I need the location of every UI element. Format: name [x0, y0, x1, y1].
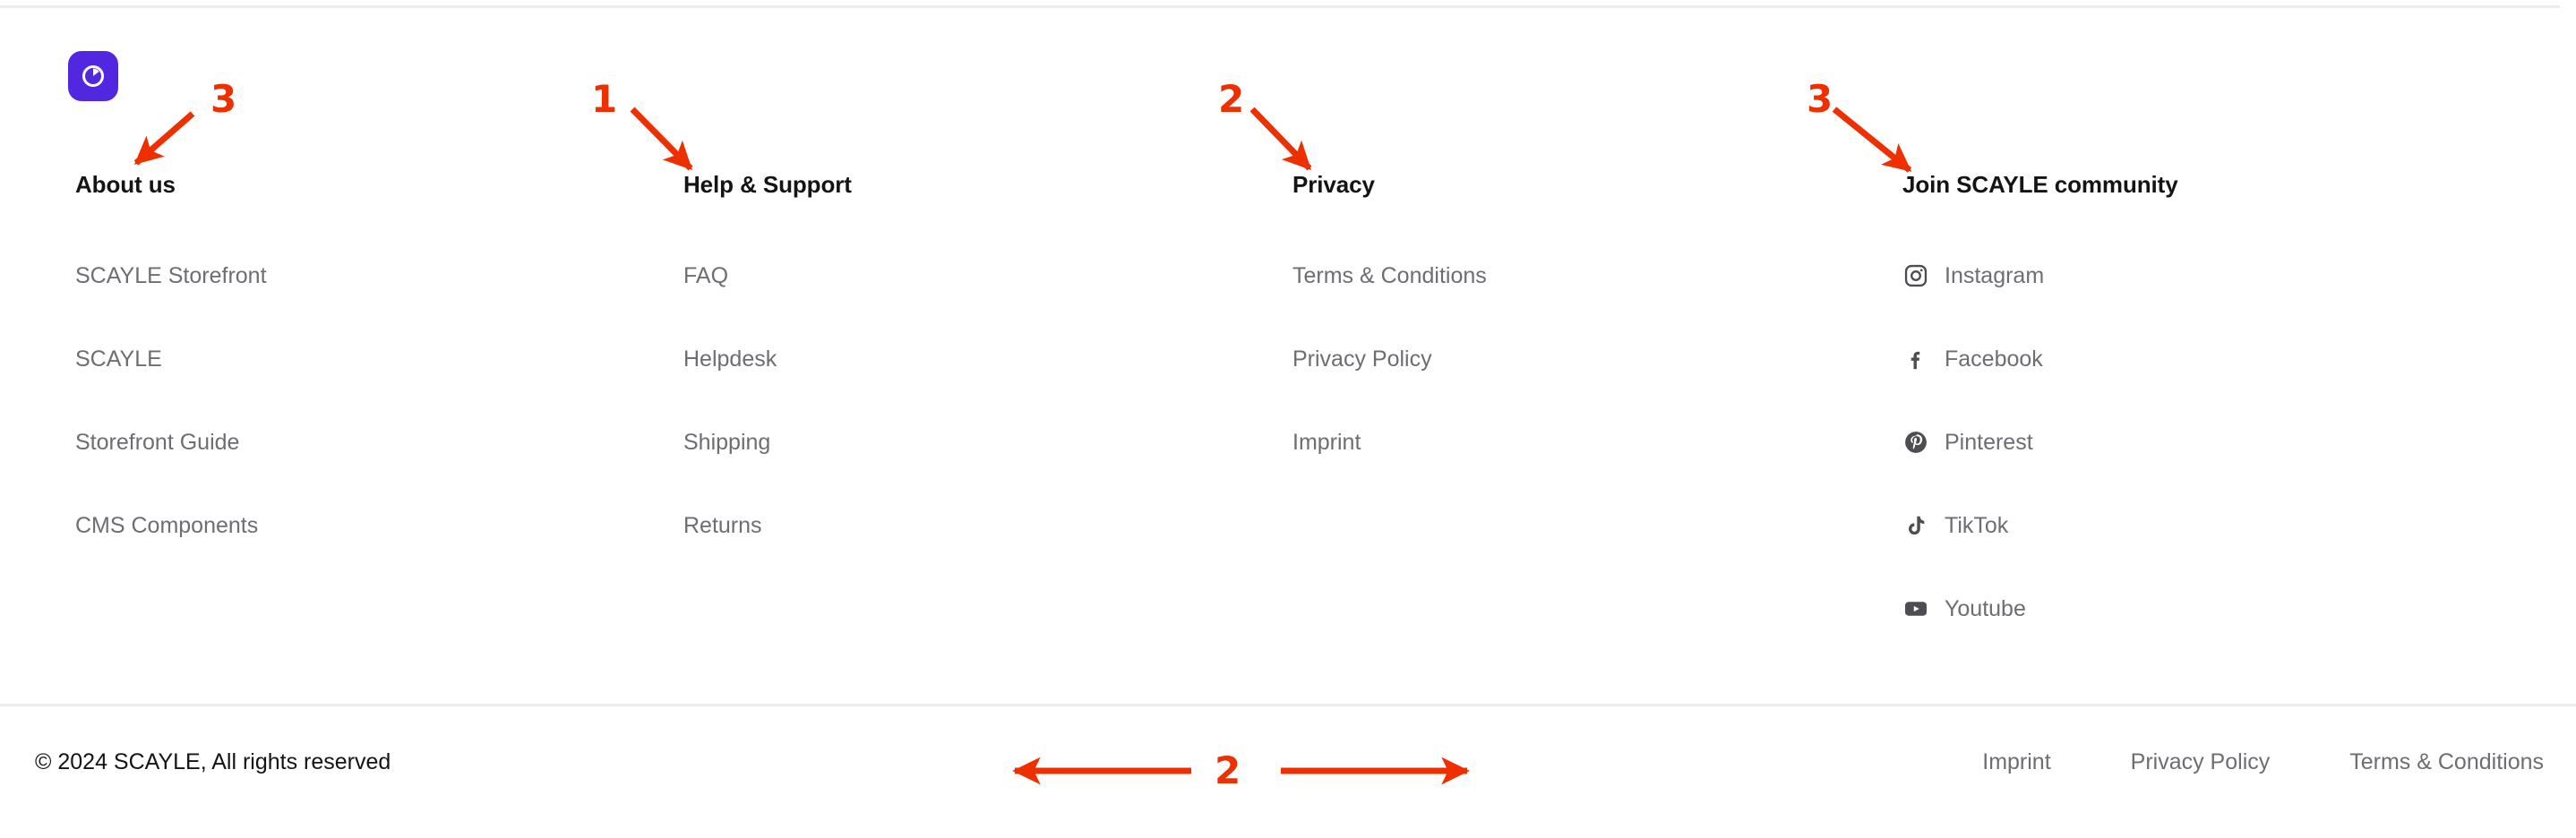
social-link-pinterest[interactable]: Pinterest	[1902, 429, 2178, 456]
list-item: SCAYLE	[75, 346, 267, 372]
column-links-privacy: Terms & Conditions Privacy Policy Imprin…	[1292, 262, 1487, 456]
list-item: Pinterest	[1902, 429, 2178, 456]
column-links-about-us: SCAYLE Storefront SCAYLE Storefront Guid…	[75, 262, 267, 539]
social-link-facebook[interactable]: Facebook	[1902, 346, 2178, 372]
list-item: FAQ	[683, 262, 852, 289]
list-item: CMS Components	[75, 512, 267, 539]
list-item: Privacy Policy	[1292, 346, 1487, 372]
social-label-facebook: Facebook	[1945, 346, 2043, 372]
annotation-number-3-about: 3	[210, 81, 236, 118]
footer-link-privacy-policy[interactable]: Privacy Policy	[1292, 346, 1432, 372]
footer-link-imprint[interactable]: Imprint	[1292, 429, 1361, 456]
footer-column-community: Join SCAYLE community Instagram	[1902, 170, 2178, 622]
footer-link-cms-components[interactable]: CMS Components	[75, 512, 258, 539]
column-links-community: Instagram Facebook	[1902, 262, 2178, 622]
facebook-icon	[1902, 346, 1929, 372]
youtube-icon	[1902, 595, 1929, 622]
column-title-privacy: Privacy	[1292, 170, 1487, 199]
footer-link-terms-conditions[interactable]: Terms & Conditions	[1292, 262, 1487, 289]
social-label-youtube: Youtube	[1945, 595, 2026, 622]
list-item: Shipping	[683, 429, 852, 456]
social-link-youtube[interactable]: Youtube	[1902, 595, 2178, 622]
annotation-number-2-bottom: 2	[1215, 752, 1241, 790]
legal-link-terms-conditions[interactable]: Terms & Conditions	[2349, 748, 2544, 775]
list-item: Storefront Guide	[75, 429, 267, 456]
column-links-help-support: FAQ Helpdesk Shipping Returns	[683, 262, 852, 539]
copyright-text: © 2024 SCAYLE, All rights reserved	[35, 748, 391, 775]
list-item: Youtube	[1902, 595, 2178, 622]
social-label-pinterest: Pinterest	[1945, 429, 2033, 456]
legal-link-imprint[interactable]: Imprint	[1982, 748, 2050, 775]
annotation-number-3-community: 3	[1807, 81, 1833, 118]
list-item: Facebook	[1902, 346, 2178, 372]
list-item: Returns	[683, 512, 852, 539]
footer-link-shipping[interactable]: Shipping	[683, 429, 770, 456]
column-title-community: Join SCAYLE community	[1902, 170, 2178, 199]
scayle-logo[interactable]	[68, 51, 118, 101]
footer-column-help-support: Help & Support FAQ Helpdesk Shipping Ret…	[683, 170, 852, 539]
footer-column-privacy: Privacy Terms & Conditions Privacy Polic…	[1292, 170, 1487, 456]
list-item: TikTok	[1902, 512, 2178, 539]
footer-link-storefront-guide[interactable]: Storefront Guide	[75, 429, 239, 456]
column-title-about-us: About us	[75, 170, 267, 199]
footer-column-about-us: About us SCAYLE Storefront SCAYLE Storef…	[75, 170, 267, 539]
list-item: SCAYLE Storefront	[75, 262, 267, 289]
footer-link-scayle[interactable]: SCAYLE	[75, 346, 162, 372]
column-title-help-support: Help & Support	[683, 170, 852, 199]
tiktok-icon	[1902, 512, 1929, 539]
social-label-tiktok: TikTok	[1945, 512, 2008, 539]
annotation-number-2-privacy: 2	[1218, 81, 1244, 118]
list-item: Helpdesk	[683, 346, 852, 372]
legal-links: Imprint Privacy Policy Terms & Condition…	[1982, 748, 2544, 775]
list-item: Instagram	[1902, 262, 2178, 289]
footer-bottom-bar: © 2024 SCAYLE, All rights reserved Impri…	[0, 706, 2576, 838]
annotation-number-1-help: 1	[591, 81, 617, 118]
footer-page: About us SCAYLE Storefront SCAYLE Storef…	[0, 0, 2576, 838]
social-link-instagram[interactable]: Instagram	[1902, 262, 2178, 289]
top-divider	[0, 5, 2560, 8]
list-item: Terms & Conditions	[1292, 262, 1487, 289]
social-label-instagram: Instagram	[1945, 262, 2044, 289]
legal-link-privacy-policy[interactable]: Privacy Policy	[2131, 748, 2271, 775]
instagram-icon	[1902, 262, 1929, 289]
list-item: Imprint	[1292, 429, 1487, 456]
footer-link-helpdesk[interactable]: Helpdesk	[683, 346, 777, 372]
pinterest-icon	[1902, 429, 1929, 456]
footer-link-returns[interactable]: Returns	[683, 512, 762, 539]
scayle-circle-logo-icon	[79, 62, 107, 90]
footer-link-faq[interactable]: FAQ	[683, 262, 728, 289]
footer-link-scayle-storefront[interactable]: SCAYLE Storefront	[75, 262, 267, 289]
social-link-tiktok[interactable]: TikTok	[1902, 512, 2178, 539]
